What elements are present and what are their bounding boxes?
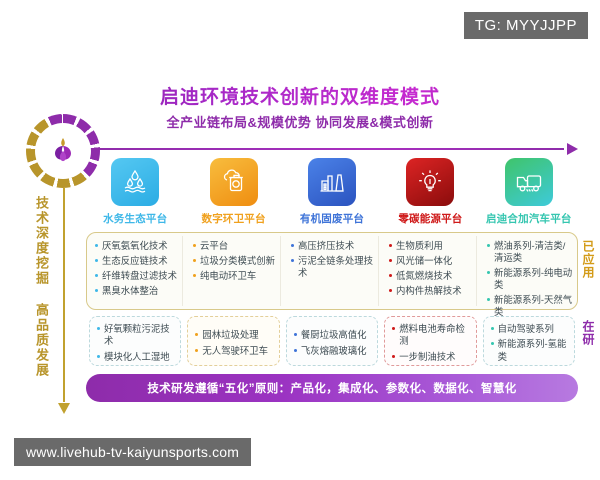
trefoil-leaf-icon (46, 134, 80, 168)
list-item: 新能源系列-纯电动类 (487, 267, 573, 291)
list-item: 好氧颗粒污泥技术 (97, 323, 177, 347)
list-item: 垃圾分类模式创新 (193, 255, 279, 267)
item-label: 新能源系列-纯电动类 (494, 267, 573, 291)
bullet-icon (95, 244, 98, 247)
bullet-icon (389, 259, 392, 262)
platform-column-water[interactable]: 水务生态平台 (86, 158, 184, 228)
list-item: 自动驾驶系列 (491, 323, 571, 335)
down-arrow-icon (58, 403, 70, 414)
column-divider (280, 236, 281, 306)
bullet-icon (193, 274, 196, 277)
page-title: 启迪环境技术创新的双维度模式 (0, 82, 600, 109)
bullet-icon (193, 244, 196, 247)
research-cell-solidwaste: 餐厨垃圾高值化 飞灰熔融玻璃化 (286, 316, 378, 366)
bullet-icon (294, 349, 297, 352)
platform-tile[interactable] (111, 158, 159, 206)
list-item: 生物质利用 (389, 240, 475, 252)
axis-line (63, 188, 65, 402)
item-label: 餐厨垃圾高值化 (301, 329, 367, 341)
platform-tile[interactable] (210, 158, 258, 206)
list-item: 一步制油技术 (392, 351, 472, 363)
list-item: 无人驾驶环卫车 (195, 345, 275, 357)
item-label: 一步制油技术 (399, 351, 455, 363)
list-item: 纯电动环卫车 (193, 270, 279, 282)
item-label: 垃圾分类模式创新 (200, 255, 275, 267)
platform-column-zerocarbon[interactable]: 零碳能源平台 (381, 158, 479, 228)
stage-label-research: 在研 (578, 320, 594, 346)
research-cell-vehicle: 自动驾驶系列 新能源系列-氢能类 (483, 316, 575, 366)
item-label: 生物质利用 (396, 240, 443, 252)
item-label: 自动驾驶系列 (498, 323, 554, 335)
bullet-icon (389, 244, 392, 247)
item-label: 新能源系列-氢能类 (498, 338, 571, 362)
platform-name: 启迪合加汽车平台 (486, 211, 572, 226)
recycle-bin-cloud-icon (219, 167, 249, 197)
item-label: 模块化人工湿地 (104, 351, 170, 363)
list-item: 风光储一体化 (389, 255, 475, 267)
platform-column-solidwaste[interactable]: 有机固废平台 (283, 158, 381, 228)
bullet-icon (487, 271, 490, 274)
platform-name: 水务生态平台 (103, 211, 167, 226)
list-item: 纤维转盘过滤技术 (95, 270, 181, 282)
bullet-icon (389, 289, 392, 292)
factory-icon (317, 167, 347, 197)
research-cell-sanitation: 园林垃圾处理 无人驾驶环卫车 (187, 316, 279, 366)
item-label: 厌氧氨氧化技术 (102, 240, 168, 252)
list-item: 燃油系列-清洁类/清运类 (487, 240, 573, 264)
platform-name: 有机固废平台 (300, 211, 364, 226)
telegram-watermark-tag: TG: MYYJJPP (464, 12, 588, 39)
list-item: 燃料电池寿命检测 (392, 323, 472, 347)
platform-columns: 水务生态平台 数字环卫平台 (86, 158, 578, 228)
list-item: 飞灰熔融玻璃化 (294, 345, 374, 357)
horizontal-axis-arrow (86, 143, 578, 155)
item-label: 飞灰熔融玻璃化 (301, 345, 367, 357)
applied-cell-vehicle: 燃油系列-清洁类/清运类 新能源系列-纯电动类 新能源系列-天然气类 (479, 233, 577, 309)
bullet-icon (97, 355, 100, 358)
column-divider (476, 236, 477, 306)
bullet-icon (291, 244, 294, 247)
platform-name: 零碳能源平台 (398, 211, 462, 226)
item-label: 园林垃圾处理 (202, 329, 258, 341)
platform-name: 数字环卫平台 (202, 211, 266, 226)
item-label: 高压挤压技术 (298, 240, 354, 252)
right-arrow-icon (567, 143, 578, 155)
list-item: 内构件热解技术 (389, 285, 475, 297)
item-label: 生态反应链技术 (102, 255, 168, 267)
item-label: 污泥全链条处理技术 (298, 255, 376, 279)
applied-cell-solidwaste: 高压挤压技术 污泥全链条处理技术 (283, 233, 381, 309)
item-label: 内构件热解技术 (396, 285, 462, 297)
list-item: 餐厨垃圾高值化 (294, 329, 374, 341)
bullet-icon (389, 274, 392, 277)
item-label: 好氧颗粒污泥技术 (104, 323, 177, 347)
column-divider (378, 236, 379, 306)
water-drops-icon (120, 167, 150, 197)
bullet-icon (95, 274, 98, 277)
item-label: 纯电动环卫车 (200, 270, 256, 282)
list-item: 生态反应链技术 (95, 255, 181, 267)
bullet-icon (193, 259, 196, 262)
item-label: 无人驾驶环卫车 (202, 345, 268, 357)
stage-label-applied: 已应用 (578, 240, 594, 279)
infographic-canvas: TG: MYYJJPP 启迪环境技术创新的双维度模式 全产业链布局&规模优势 协… (0, 0, 600, 480)
list-item: 低氮燃烧技术 (389, 270, 475, 282)
list-item: 新能源系列-氢能类 (491, 338, 571, 362)
bullet-icon (95, 289, 98, 292)
list-item: 厌氧氨氧化技术 (95, 240, 181, 252)
item-label: 纤维转盘过滤技术 (102, 270, 177, 282)
vertical-axis-label: 技术深度挖掘 高品质发展 (26, 196, 48, 378)
bullet-icon (392, 355, 395, 358)
list-item: 新能源系列-天然气类 (487, 294, 573, 318)
list-item: 污泥全链条处理技术 (291, 255, 377, 279)
item-label: 燃油系列-清洁类/清运类 (494, 240, 570, 264)
list-item: 模块化人工湿地 (97, 351, 177, 363)
list-item: 高压挤压技术 (291, 240, 377, 252)
item-label: 风光储一体化 (396, 255, 452, 267)
logo-inner (35, 123, 91, 179)
bullet-icon (392, 327, 395, 330)
bullet-icon (291, 259, 294, 262)
list-item: 园林垃圾处理 (195, 329, 275, 341)
research-technologies-row: 好氧颗粒污泥技术 模块化人工湿地 园林垃圾处理 无人驾驶环卫车 餐厨垃圾高值化 … (86, 316, 578, 366)
column-divider (182, 236, 183, 306)
platform-tile[interactable] (406, 158, 454, 206)
platform-tile[interactable] (308, 158, 356, 206)
principles-banner: 技术研发遵循“五化”原则：产品化，集成化、参数化、数据化、智慧化 (86, 374, 578, 402)
item-label: 云平台 (200, 240, 228, 252)
bullet-icon (97, 327, 100, 330)
research-cell-water: 好氧颗粒污泥技术 模块化人工湿地 (89, 316, 181, 366)
applied-cell-sanitation: 云平台 垃圾分类模式创新 纯电动环卫车 (185, 233, 283, 309)
bullet-icon (487, 244, 490, 247)
bullet-icon (95, 259, 98, 262)
applied-cell-water: 厌氧氨氧化技术 生态反应链技术 纤维转盘过滤技术 黑臭水体整治 (87, 233, 185, 309)
item-label: 黑臭水体整治 (102, 285, 158, 297)
sweeper-truck-icon (514, 167, 544, 197)
url-watermark: www.livehub-tv-kaiyunsports.com (14, 438, 251, 466)
vertical-axis-arrow (58, 188, 70, 414)
bullet-icon (491, 342, 494, 345)
platform-column-sanitation[interactable]: 数字环卫平台 (184, 158, 282, 228)
applied-technologies-row: 厌氧氨氧化技术 生态反应链技术 纤维转盘过滤技术 黑臭水体整治 云平台 垃圾分类… (86, 232, 578, 310)
bullet-icon (294, 333, 297, 336)
platform-column-vehicle[interactable]: 启迪合加汽车平台 (480, 158, 578, 228)
bullet-icon (195, 349, 198, 352)
bullet-icon (487, 298, 490, 301)
item-label: 新能源系列-天然气类 (494, 294, 573, 318)
item-label: 低氮燃烧技术 (396, 270, 452, 282)
item-label: 燃料电池寿命检测 (399, 323, 472, 347)
lightbulb-icon (415, 167, 445, 197)
bullet-icon (195, 333, 198, 336)
list-item: 黑臭水体整治 (95, 285, 181, 297)
list-item: 云平台 (193, 240, 279, 252)
applied-cell-zerocarbon: 生物质利用 风光储一体化 低氮燃烧技术 内构件热解技术 (381, 233, 479, 309)
bullet-icon (491, 327, 494, 330)
axis-line (86, 148, 564, 150)
research-cell-zerocarbon: 燃料电池寿命检测 一步制油技术 (384, 316, 476, 366)
platform-tile[interactable] (505, 158, 553, 206)
